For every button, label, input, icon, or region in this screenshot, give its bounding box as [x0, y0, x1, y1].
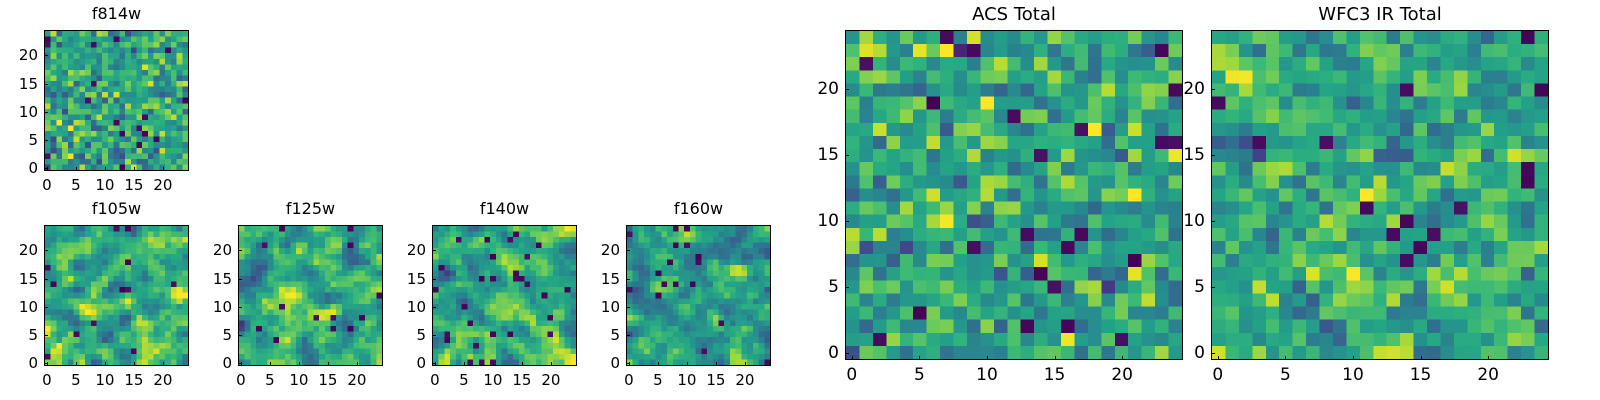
ytick-mark: [44, 140, 48, 141]
heatmap-wfc3-ir-total[interactable]: [1211, 30, 1549, 360]
ytick-label: 0: [0, 354, 38, 372]
ytick-label: 0: [0, 159, 38, 177]
ytick-label: 5: [0, 326, 38, 344]
ytick-label: 15: [178, 270, 232, 288]
xtick-label: 5: [459, 371, 469, 389]
xtick-label: 20: [541, 371, 560, 389]
xtick-mark: [299, 362, 300, 366]
ytick-label: 15: [0, 75, 38, 93]
ytick-label: 5: [372, 326, 426, 344]
ytick-label: 15: [566, 270, 620, 288]
xtick-mark: [745, 362, 746, 366]
xtick-label: 20: [347, 371, 366, 389]
ytick-mark: [44, 84, 48, 85]
ytick-mark: [44, 335, 48, 336]
xtick-label: 10: [1342, 365, 1364, 385]
ytick-label: 20: [566, 241, 620, 259]
xtick-label: 20: [1477, 365, 1499, 385]
ytick-mark: [44, 55, 48, 56]
panel-f814w: f814w0510152005101520: [0, 4, 189, 201]
ytick-mark: [1211, 155, 1215, 156]
xtick-mark: [357, 362, 358, 366]
ytick-mark: [626, 250, 630, 251]
xtick-label: 5: [265, 371, 275, 389]
ytick-mark: [238, 250, 242, 251]
ytick-label: 10: [372, 298, 426, 316]
ytick-label: 15: [0, 270, 38, 288]
xtick-label: 0: [624, 371, 634, 389]
panel-title-f814w: f814w: [44, 4, 189, 23]
ytick-mark: [238, 307, 242, 308]
ytick-mark: [626, 279, 630, 280]
xtick-mark: [163, 362, 164, 366]
panel-wfc3-ir-total: WFC3 IR Total0510152005101520: [1151, 4, 1549, 390]
xtick-mark: [163, 167, 164, 171]
ytick-mark: [432, 250, 436, 251]
xtick-label: 15: [124, 176, 143, 194]
xtick-mark: [1421, 356, 1422, 360]
xtick-mark: [551, 362, 552, 366]
ytick-mark: [845, 155, 849, 156]
ytick-label: 5: [1151, 277, 1205, 297]
ytick-label: 10: [1151, 211, 1205, 231]
ytick-mark: [44, 250, 48, 251]
ytick-label: 15: [372, 270, 426, 288]
panel-title-acs-total: ACS Total: [845, 4, 1183, 25]
xtick-mark: [987, 356, 988, 360]
xtick-mark: [687, 362, 688, 366]
xtick-label: 15: [1410, 365, 1432, 385]
panel-title-f160w: f160w: [626, 199, 771, 218]
ytick-mark: [626, 363, 630, 364]
ytick-mark: [238, 335, 242, 336]
xtick-label: 20: [1111, 365, 1133, 385]
xtick-mark: [105, 362, 106, 366]
ytick-label: 10: [785, 211, 839, 231]
xtick-mark: [522, 362, 523, 366]
heatmap-f125w[interactable]: [238, 225, 383, 366]
ytick-mark: [1211, 287, 1215, 288]
ytick-mark: [432, 363, 436, 364]
ytick-label: 10: [178, 298, 232, 316]
ytick-label: 5: [785, 277, 839, 297]
xtick-label: 20: [153, 176, 172, 194]
ytick-label: 20: [0, 46, 38, 64]
panel-f160w: f160w0510152005101520: [566, 199, 771, 396]
panel-title-f105w: f105w: [44, 199, 189, 218]
xtick-mark: [1353, 356, 1354, 360]
xtick-label: 15: [124, 371, 143, 389]
xtick-label: 20: [153, 371, 172, 389]
heatmap-f814w[interactable]: [44, 30, 189, 171]
panel-f140w: f140w0510152005101520: [372, 199, 577, 396]
xtick-mark: [464, 362, 465, 366]
ytick-mark: [44, 307, 48, 308]
xtick-mark: [134, 167, 135, 171]
xtick-mark: [1488, 356, 1489, 360]
ytick-label: 20: [1151, 79, 1205, 99]
xtick-label: 0: [430, 371, 440, 389]
xtick-label: 0: [236, 371, 246, 389]
ytick-label: 0: [566, 354, 620, 372]
ytick-mark: [1211, 353, 1215, 354]
xtick-label: 5: [914, 365, 925, 385]
ytick-mark: [44, 112, 48, 113]
xtick-mark: [919, 356, 920, 360]
panel-f125w: f125w0510152005101520: [178, 199, 383, 396]
xtick-label: 15: [512, 371, 531, 389]
xtick-label: 15: [1044, 365, 1066, 385]
xtick-label: 10: [677, 371, 696, 389]
ytick-label: 15: [1151, 145, 1205, 165]
heatmap-canvas-f814w: [45, 31, 188, 170]
xtick-label: 0: [42, 371, 52, 389]
ytick-mark: [845, 353, 849, 354]
xtick-label: 0: [846, 365, 857, 385]
ytick-label: 20: [0, 241, 38, 259]
ytick-mark: [238, 363, 242, 364]
ytick-mark: [626, 307, 630, 308]
xtick-mark: [716, 362, 717, 366]
ytick-mark: [44, 168, 48, 169]
ytick-mark: [845, 221, 849, 222]
xtick-label: 10: [483, 371, 502, 389]
heatmap-f105w[interactable]: [44, 225, 189, 366]
heatmap-canvas-f140w: [433, 226, 576, 365]
ytick-label: 15: [785, 145, 839, 165]
xtick-label: 5: [653, 371, 663, 389]
xtick-label: 5: [71, 371, 81, 389]
ytick-label: 0: [1151, 343, 1205, 363]
panel-acs-total: ACS Total0510152005101520: [785, 4, 1183, 390]
ytick-label: 5: [0, 131, 38, 149]
xtick-mark: [270, 362, 271, 366]
ytick-mark: [845, 89, 849, 90]
ytick-label: 10: [0, 103, 38, 121]
heatmap-f140w[interactable]: [432, 225, 577, 366]
xtick-label: 10: [289, 371, 308, 389]
ytick-mark: [432, 335, 436, 336]
xtick-label: 0: [1212, 365, 1223, 385]
ytick-label: 5: [566, 326, 620, 344]
ytick-label: 10: [566, 298, 620, 316]
ytick-mark: [1211, 221, 1215, 222]
ytick-label: 10: [0, 298, 38, 316]
panel-f105w: f105w0510152005101520: [0, 199, 189, 396]
xtick-mark: [328, 362, 329, 366]
heatmap-canvas-wfc3-ir-total: [1212, 31, 1548, 359]
xtick-mark: [852, 356, 853, 360]
heatmap-f160w[interactable]: [626, 225, 771, 366]
ytick-mark: [626, 335, 630, 336]
xtick-label: 10: [95, 176, 114, 194]
xtick-label: 0: [42, 176, 52, 194]
xtick-label: 10: [976, 365, 998, 385]
ytick-mark: [432, 279, 436, 280]
xtick-mark: [1285, 356, 1286, 360]
xtick-mark: [134, 362, 135, 366]
ytick-label: 0: [785, 343, 839, 363]
panel-title-f125w: f125w: [238, 199, 383, 218]
xtick-label: 10: [95, 371, 114, 389]
ytick-mark: [44, 279, 48, 280]
xtick-mark: [105, 167, 106, 171]
xtick-label: 5: [71, 176, 81, 194]
ytick-label: 20: [372, 241, 426, 259]
panel-title-f140w: f140w: [432, 199, 577, 218]
xtick-mark: [1122, 356, 1123, 360]
xtick-mark: [1055, 356, 1056, 360]
xtick-label: 15: [706, 371, 725, 389]
heatmap-acs-total[interactable]: [845, 30, 1183, 360]
ytick-mark: [44, 363, 48, 364]
ytick-label: 0: [372, 354, 426, 372]
xtick-mark: [76, 167, 77, 171]
ytick-mark: [238, 279, 242, 280]
xtick-mark: [76, 362, 77, 366]
heatmap-canvas-f160w: [627, 226, 770, 365]
ytick-label: 0: [178, 354, 232, 372]
ytick-label: 5: [178, 326, 232, 344]
heatmap-canvas-f105w: [45, 226, 188, 365]
heatmap-canvas-f125w: [239, 226, 382, 365]
xtick-label: 20: [735, 371, 754, 389]
xtick-mark: [658, 362, 659, 366]
xtick-mark: [493, 362, 494, 366]
ytick-label: 20: [178, 241, 232, 259]
ytick-label: 20: [785, 79, 839, 99]
xtick-label: 15: [318, 371, 337, 389]
xtick-label: 5: [1280, 365, 1291, 385]
ytick-mark: [845, 287, 849, 288]
ytick-mark: [432, 307, 436, 308]
ytick-mark: [1211, 89, 1215, 90]
panel-title-wfc3-ir-total: WFC3 IR Total: [1211, 4, 1549, 25]
xtick-mark: [1218, 356, 1219, 360]
heatmap-canvas-acs-total: [846, 31, 1182, 359]
